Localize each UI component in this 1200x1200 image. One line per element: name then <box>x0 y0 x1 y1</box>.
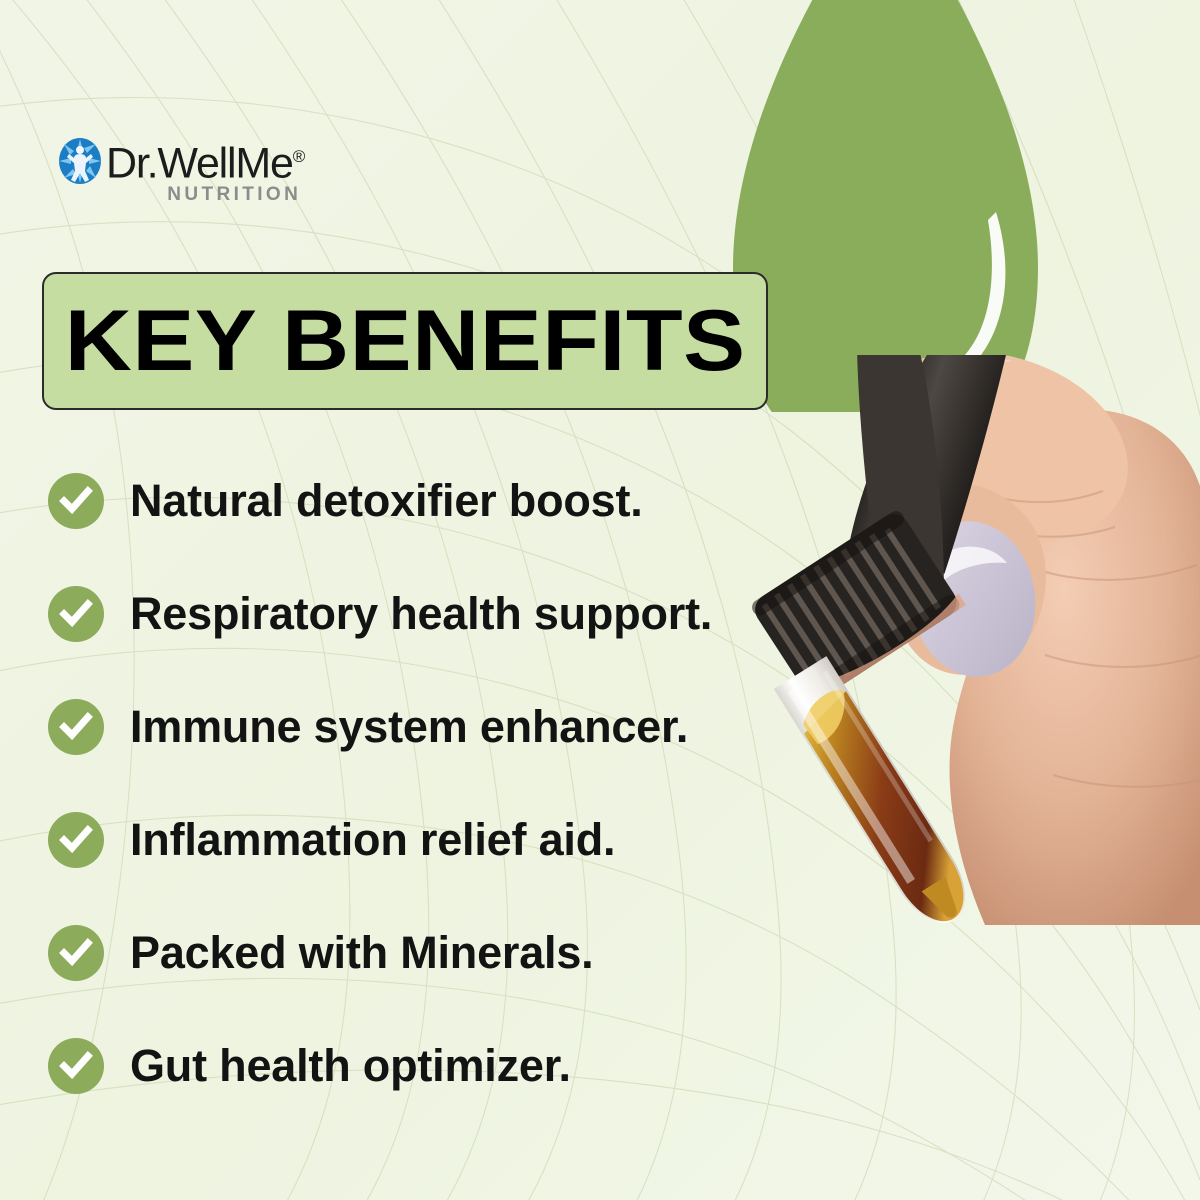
key-benefits-infographic: Dr.WellMe® NUTRITION KEY BENEFITS Natura… <box>0 0 1200 1200</box>
list-item: Inflammation relief aid. <box>48 811 768 869</box>
logo-wordmark-text: Dr.WellMe <box>106 139 293 187</box>
check-icon <box>48 586 104 642</box>
registered-trademark-icon: ® <box>293 147 306 166</box>
list-item-label: Respiratory health support. <box>130 590 712 638</box>
wellness-burst-icon <box>58 137 102 185</box>
hand-holding-dropper-photo <box>735 355 1200 925</box>
brand-logo: Dr.WellMe® NUTRITION <box>58 134 305 206</box>
page-title: KEY BENEFITS <box>65 298 746 384</box>
benefits-list: Natural detoxifier boost. Respiratory he… <box>48 472 768 1095</box>
page-title-box: KEY BENEFITS <box>42 272 768 410</box>
list-item-label: Natural detoxifier boost. <box>130 477 643 525</box>
list-item: Immune system enhancer. <box>48 698 768 756</box>
list-item: Respiratory health support. <box>48 585 768 643</box>
list-item: Natural detoxifier boost. <box>48 472 768 530</box>
logo-subtitle: NUTRITION <box>106 184 305 206</box>
list-item: Packed with Minerals. <box>48 924 768 982</box>
list-item: Gut health optimizer. <box>48 1037 768 1095</box>
list-item-label: Gut health optimizer. <box>130 1042 571 1090</box>
check-icon <box>48 473 104 529</box>
list-item-label: Immune system enhancer. <box>130 703 688 751</box>
oil-droplet-graphic <box>733 0 1038 412</box>
check-icon <box>48 812 104 868</box>
check-icon <box>48 1038 104 1094</box>
list-item-label: Inflammation relief aid. <box>130 816 615 864</box>
logo-wordmark: Dr.WellMe® <box>106 134 305 186</box>
check-icon <box>48 925 104 981</box>
list-item-label: Packed with Minerals. <box>130 929 593 977</box>
check-icon <box>48 699 104 755</box>
